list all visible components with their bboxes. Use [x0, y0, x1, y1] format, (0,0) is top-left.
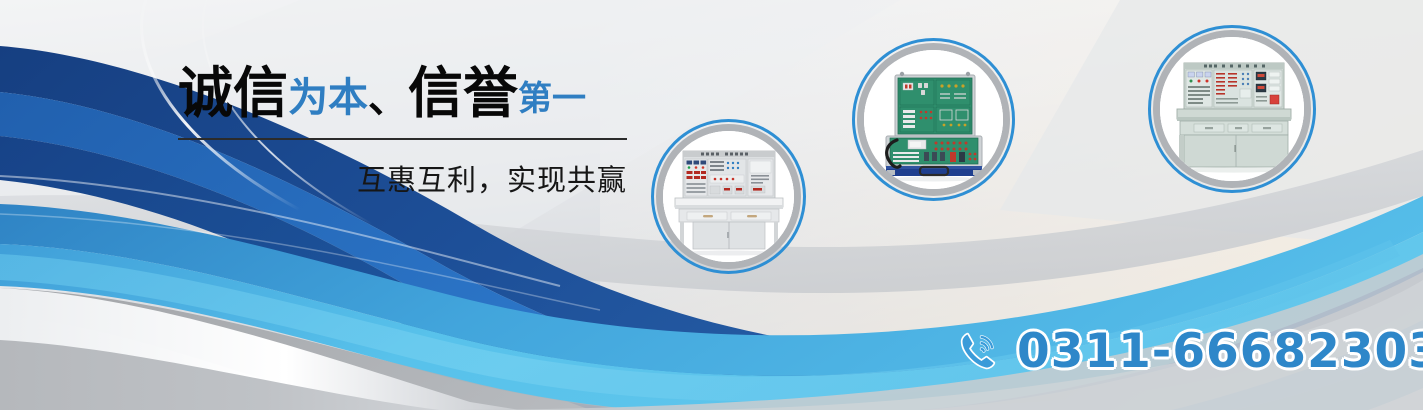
contact-phone-block[interactable]: 0311-66682303 — [955, 327, 1423, 375]
workbench-illustration-3 — [1160, 37, 1304, 181]
headline-part-4: 第一 — [518, 82, 586, 116]
subtitle-text: 互惠互利，实现共赢 — [178, 157, 627, 199]
product-photo-workbench-3 — [1160, 37, 1304, 181]
workbench-illustration-1 — [663, 131, 794, 262]
phone-ringing-icon — [955, 327, 1003, 375]
headline-divider — [178, 138, 627, 140]
product-photo-workbench-1 — [663, 131, 794, 262]
phone-number-text: 0311-66682303 — [1017, 328, 1423, 375]
headline-text: 诚信 为本 、 信誉 第一 — [178, 66, 628, 128]
product-circle-2[interactable] — [852, 38, 1015, 201]
headline-punctuation: 、 — [368, 79, 408, 119]
product-photo-training-case — [864, 50, 1003, 189]
promotional-banner: 诚信 为本 、 信誉 第一 互惠互利，实现共赢 — [0, 0, 1423, 410]
headline-part-2: 为本 — [288, 78, 368, 118]
product-circle-3[interactable] — [1148, 25, 1316, 193]
headline-part-1: 诚信 — [178, 66, 288, 121]
portable-case-illustration — [864, 50, 1003, 189]
product-circle-1[interactable] — [651, 119, 806, 274]
headline-part-3: 信誉 — [408, 66, 518, 121]
headline-block: 诚信 为本 、 信誉 第一 互惠互利，实现共赢 — [178, 66, 628, 199]
